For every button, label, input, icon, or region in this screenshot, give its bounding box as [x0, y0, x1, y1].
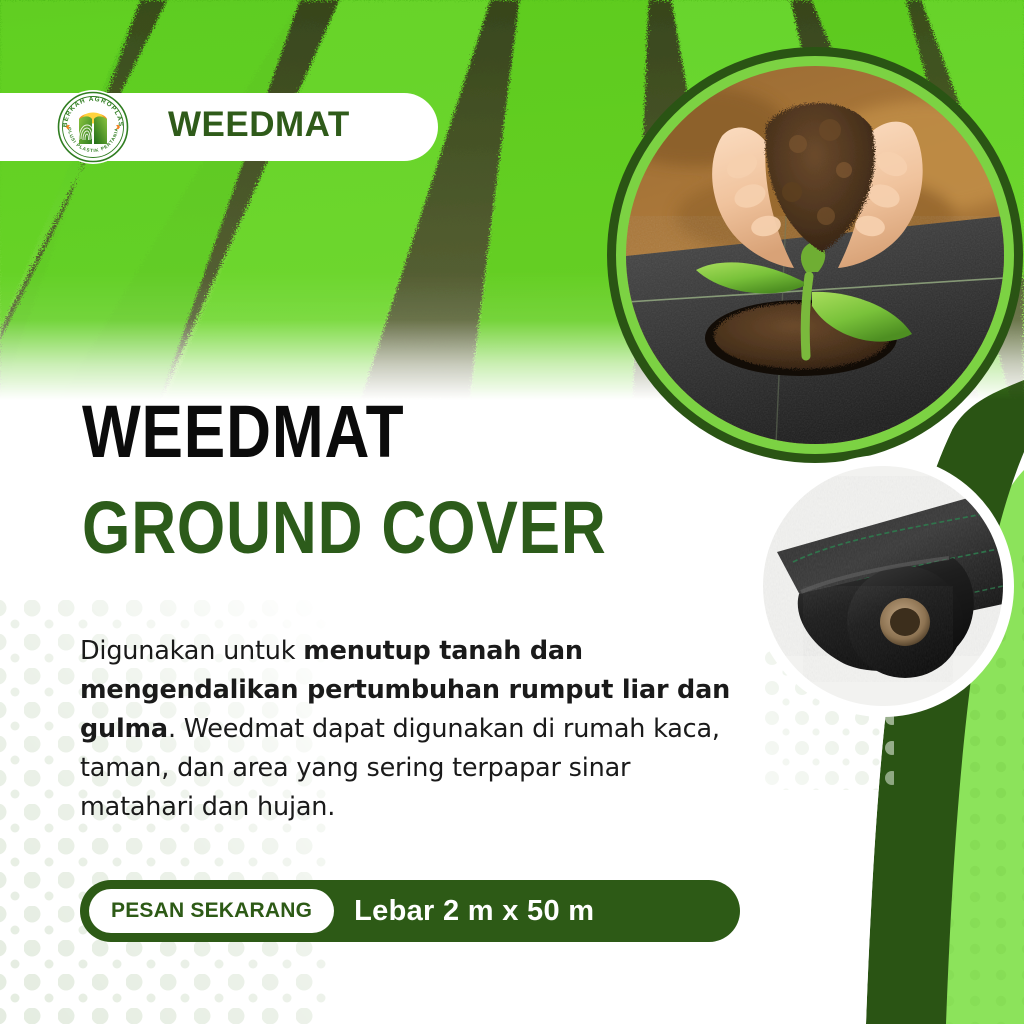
order-now-button[interactable]: PESAN SEKARANG — [89, 889, 334, 933]
product-description: Digunakan untuk menutup tanah dan mengen… — [80, 632, 740, 827]
brand-name-label: WEEDMAT — [168, 105, 350, 145]
weedmat-roll-image — [763, 466, 1003, 706]
promo-poster: BERKAH AGROPLAS SOLUSI PLASTIK PERTANIAN — [0, 0, 1024, 1024]
headline-line-1: WEEDMAT — [82, 398, 404, 466]
headline-line-2: GROUND COVER — [82, 494, 607, 562]
hands-soil-seedling-image — [626, 66, 1004, 444]
berkah-agroplas-logo-icon: BERKAH AGROPLAS SOLUSI PLASTIK PERTANIAN — [55, 89, 131, 165]
product-photo-circle-large — [607, 47, 1023, 463]
desc-seg-0: Digunakan untuk — [80, 636, 303, 666]
product-size-label: Lebar 2 m x 50 m — [354, 895, 594, 928]
cta-bar[interactable]: PESAN SEKARANG Lebar 2 m x 50 m — [80, 880, 740, 942]
product-photo-circle-small — [752, 455, 1014, 717]
desc-seg-2: . Weedmat dapat digunakan di rumah kaca,… — [80, 714, 720, 822]
